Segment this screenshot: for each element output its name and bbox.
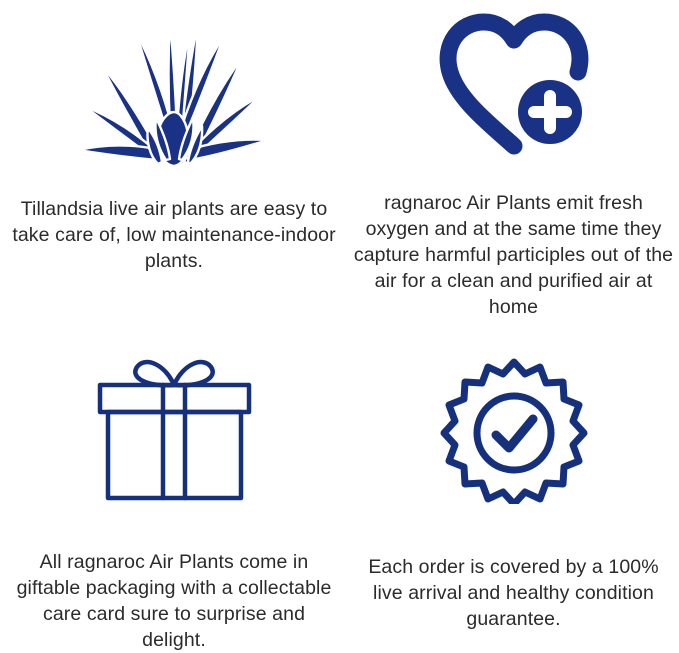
feature-card-fresh-oxygen: ragnaroc Air Plants emit fresh oxygen an…	[348, 0, 679, 308]
feature-grid: Tillandsia live air plants are easy to t…	[0, 0, 679, 617]
feature-description: All ragnaroc Air Plants come in giftable…	[9, 549, 339, 653]
guarantee-badge-icon	[439, 356, 589, 504]
heart-plus-icon	[434, 10, 594, 160]
feature-card-giftable-packaging: All ragnaroc Air Plants come in giftable…	[0, 308, 348, 617]
air-plant-icon	[74, 14, 274, 174]
feature-description: Each order is covered by a 100% live arr…	[351, 554, 676, 632]
feature-description: Tillandsia live air plants are easy to t…	[4, 196, 344, 274]
feature-card-live-arrival-guarantee: Each order is covered by a 100% live arr…	[348, 308, 679, 617]
gift-box-icon	[87, 350, 262, 505]
feature-card-air-plant-care: Tillandsia live air plants are easy to t…	[0, 0, 348, 308]
feature-description: ragnaroc Air Plants emit fresh oxygen an…	[351, 190, 677, 320]
